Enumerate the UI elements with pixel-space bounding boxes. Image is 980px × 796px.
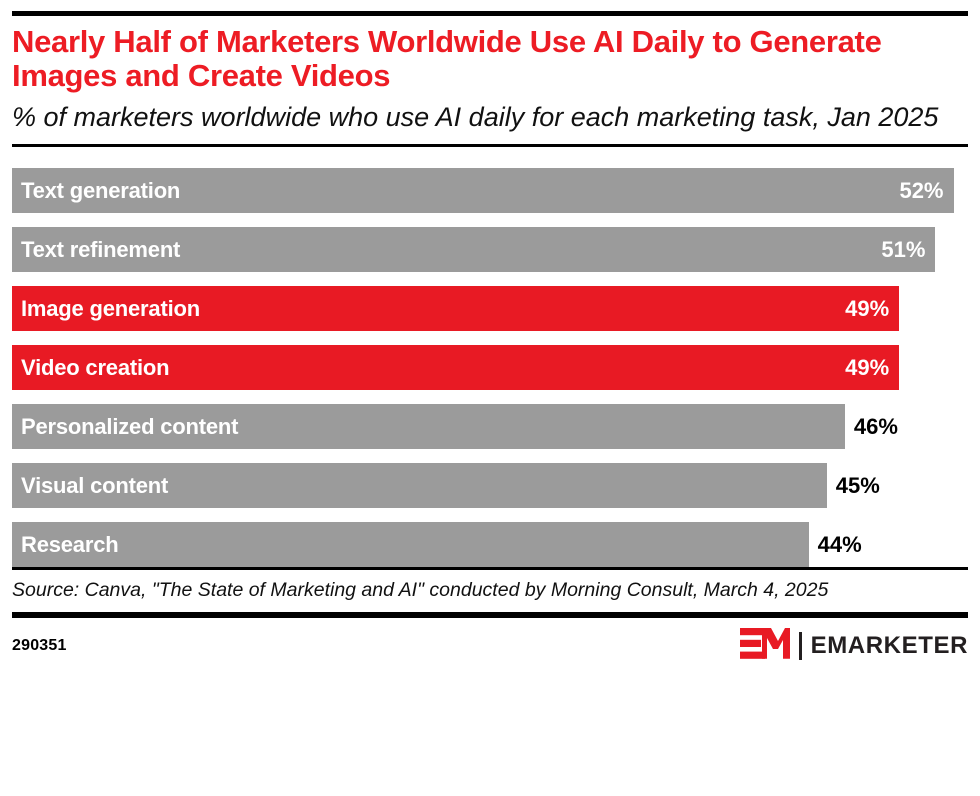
brand-logo: EMARKETER [740, 628, 968, 664]
bar-fill: Research44% [12, 522, 809, 567]
brand-divider [799, 632, 802, 660]
bar-fill: Text generation52% [12, 168, 954, 213]
bar-category-label: Image generation [21, 298, 200, 320]
bar-category-label: Research [21, 534, 118, 556]
bar-value-label-outside: 45% [827, 463, 880, 508]
bar-fill: Video creation49% [12, 345, 899, 390]
bar-value-label-outside: 44% [809, 522, 862, 567]
bar-value-label: 51% [881, 239, 925, 261]
chart-card: Nearly Half of Marketers Worldwide Use A… [0, 11, 980, 796]
page-title: Nearly Half of Marketers Worldwide Use A… [12, 25, 967, 93]
top-rule [12, 11, 968, 16]
bar-fill: Visual content45% [12, 463, 827, 508]
chart-id: 290351 [12, 637, 67, 655]
bar-row: Video creation49%49% [12, 345, 968, 390]
bar-row: Visual content45%45% [12, 463, 968, 508]
footer: 290351 EMARKETER [12, 618, 968, 664]
bar-fill: Personalized content46% [12, 404, 845, 449]
bar-row: Image generation49%49% [12, 286, 968, 331]
bar-category-label: Personalized content [21, 416, 238, 438]
bar-category-label: Text refinement [21, 239, 180, 261]
bar-category-label: Visual content [21, 475, 168, 497]
bar-chart: Text generation52%52%Text refinement51%5… [12, 147, 968, 567]
bar-value-label: 49% [845, 357, 889, 379]
source-note: Source: Canva, "The State of Marketing a… [12, 570, 952, 612]
bar-row: Text generation52%52% [12, 168, 968, 213]
bar-value-label-outside: 46% [845, 404, 898, 449]
em-logo-icon [740, 628, 790, 664]
bar-row: Research44%44% [12, 522, 968, 567]
page-subtitle: % of marketers worldwide who use AI dail… [12, 101, 942, 133]
bar-category-label: Video creation [21, 357, 169, 379]
brand-name: EMARKETER [811, 634, 968, 658]
header: Nearly Half of Marketers Worldwide Use A… [12, 25, 968, 144]
bar-value-label: 49% [845, 298, 889, 320]
bar-fill: Image generation49% [12, 286, 899, 331]
bar-value-label: 52% [899, 180, 943, 202]
bar-fill: Text refinement51% [12, 227, 935, 272]
bar-row: Text refinement51%51% [12, 227, 968, 272]
bar-row: Personalized content46%46% [12, 404, 968, 449]
bar-category-label: Text generation [21, 180, 180, 202]
